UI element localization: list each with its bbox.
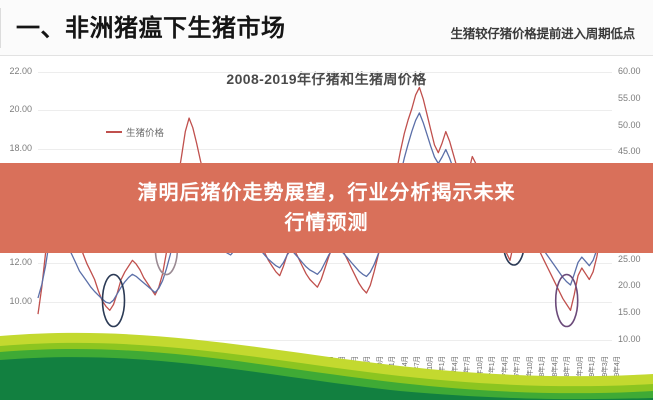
y-axis-left-tick: 12.00 (9, 257, 32, 267)
page-title: 一、非洲猪瘟下生猪市场 (16, 8, 286, 43)
overlay-line-2: 行情预测 (285, 208, 369, 238)
header-caption: 生猪较仔猪价格提前进入周期低点 (450, 23, 635, 42)
y-axis-right-tick: 50.00 (618, 120, 641, 130)
y-axis-right-tick: 45.00 (618, 146, 641, 156)
y-axis-right-tick: 60.00 (618, 66, 641, 76)
title-overlay-banner: 清明后猪价走势展望，行业分析揭示未来 行情预测 (0, 163, 653, 253)
overlay-line-1: 清明后猪价走势展望，行业分析揭示未来 (138, 178, 516, 208)
legend-item-hog-price: 生猪价格 (106, 125, 164, 139)
screenshot-root: 一、非洲猪瘟下生猪市场 生猪较仔猪价格提前进入周期低点 2008-2019年仔猪… (0, 0, 653, 400)
y-axis-right-tick: 20.00 (618, 280, 641, 290)
header-bar: 一、非洲猪瘟下生猪市场 生猪较仔猪价格提前进入周期低点 (0, 0, 653, 56)
y-axis-right-tick: 25.00 (618, 254, 641, 264)
y-axis-right-tick: 55.00 (618, 93, 641, 103)
green-wave-decoration (0, 290, 653, 400)
y-axis-left-tick: 22.00 (9, 66, 32, 76)
y-axis-left-tick: 20.00 (9, 104, 32, 114)
legend-label-hog-price: 生猪价格 (126, 125, 164, 139)
y-axis-left-tick: 18.00 (9, 143, 32, 153)
legend-swatch-hog-price (106, 131, 122, 133)
